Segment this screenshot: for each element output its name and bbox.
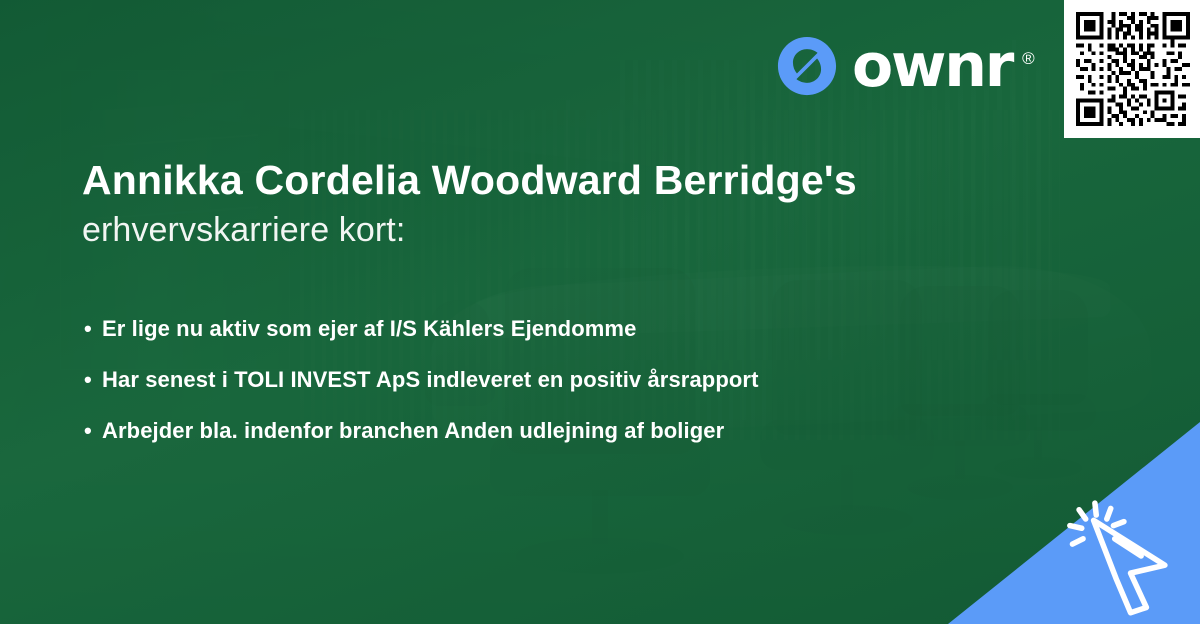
list-item: • Arbejder bla. indenfor branchen Anden … bbox=[84, 420, 759, 442]
bullet-marker-icon: • bbox=[84, 369, 102, 391]
ownr-wordmark: ownr bbox=[852, 38, 1012, 95]
list-item-label: Arbejder bla. indenfor branchen Anden ud… bbox=[102, 420, 724, 442]
headline-line-1: Annikka Cordelia Woodward Berridge's bbox=[82, 156, 1082, 204]
list-item: • Er lige nu aktiv som ejer af I/S Kähle… bbox=[84, 318, 759, 340]
ownr-profile-card: ownr ® bbox=[0, 0, 1200, 624]
bullet-list: • Er lige nu aktiv som ejer af I/S Kähle… bbox=[84, 318, 759, 471]
list-item-label: Er lige nu aktiv som ejer af I/S Kählers… bbox=[102, 318, 636, 340]
list-item-label: Har senest i TOLI INVEST ApS indleveret … bbox=[102, 369, 759, 391]
registered-trademark-symbol: ® bbox=[1022, 49, 1035, 69]
headline: Annikka Cordelia Woodward Berridge's erh… bbox=[82, 156, 1082, 253]
headline-line-2: erhvervskarriere kort: bbox=[82, 208, 1082, 252]
ownr-logo[interactable]: ownr ® bbox=[776, 35, 1035, 97]
ownr-circle-logo-icon bbox=[776, 35, 838, 97]
bullet-marker-icon: • bbox=[84, 318, 102, 340]
click-cursor-icon bbox=[1054, 486, 1186, 614]
bullet-marker-icon: • bbox=[84, 420, 102, 442]
qr-code[interactable] bbox=[1064, 0, 1200, 138]
list-item: • Har senest i TOLI INVEST ApS indlevere… bbox=[84, 369, 759, 391]
